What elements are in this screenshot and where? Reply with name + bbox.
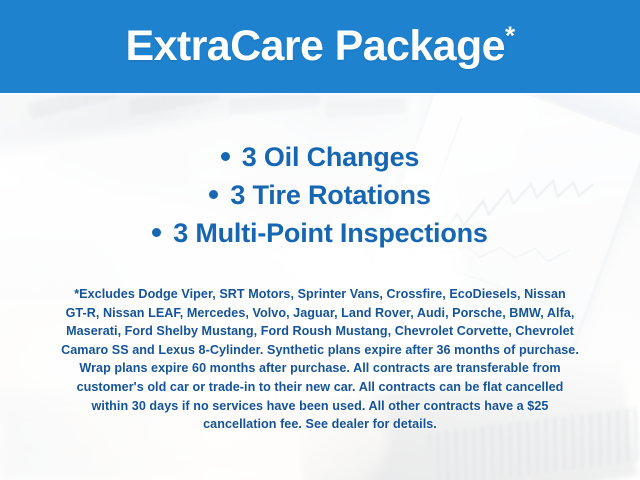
disclaimer-line: GT-R, Nissan LEAF, Mercedes, Volvo, Jagu… [26,304,614,323]
disclaimer-text: *Excludes Dodge Viper, SRT Motors, Sprin… [26,285,614,434]
benefit-item-tire-rotations: 3 Tire Rotations [0,176,640,214]
header-banner: ExtraCare Package* [0,0,640,93]
disclaimer-line: Camaro SS and Lexus 8-Cylinder. Syntheti… [26,341,614,360]
disclaimer-line: within 30 days if no services have been … [26,397,614,416]
benefit-item-oil-changes: 3 Oil Changes [0,138,640,176]
bullet-dot-icon [152,228,161,237]
benefits-list: 3 Oil Changes 3 Tire Rotations 3 Multi-P… [0,138,640,252]
page-title-text: ExtraCare Package [126,22,505,70]
disclaimer-line: *Excludes Dodge Viper, SRT Motors, Sprin… [26,285,614,304]
disclaimer-line: customer's old car or trade-in to their … [26,378,614,397]
page-title: ExtraCare Package* [126,25,515,68]
extracare-package-promo: ExtraCare Package* 3 Oil Changes 3 Tire … [0,0,640,480]
disclaimer-line: Wrap plans expire 60 months after purcha… [26,359,614,378]
disclaimer-line: Maserati, Ford Shelby Mustang, Ford Rous… [26,322,614,341]
bullet-dot-icon [209,190,218,199]
benefit-item-label: 3 Multi-Point Inspections [173,218,488,248]
benefit-item-label: 3 Oil Changes [242,142,419,172]
header-underline [0,93,640,96]
bullet-dot-icon [221,152,230,161]
page-title-asterisk: * [505,21,515,51]
benefit-item-label: 3 Tire Rotations [230,180,430,210]
benefit-item-multi-point-inspections: 3 Multi-Point Inspections [0,214,640,252]
disclaimer-line: cancellation fee. See dealer for details… [26,415,614,434]
